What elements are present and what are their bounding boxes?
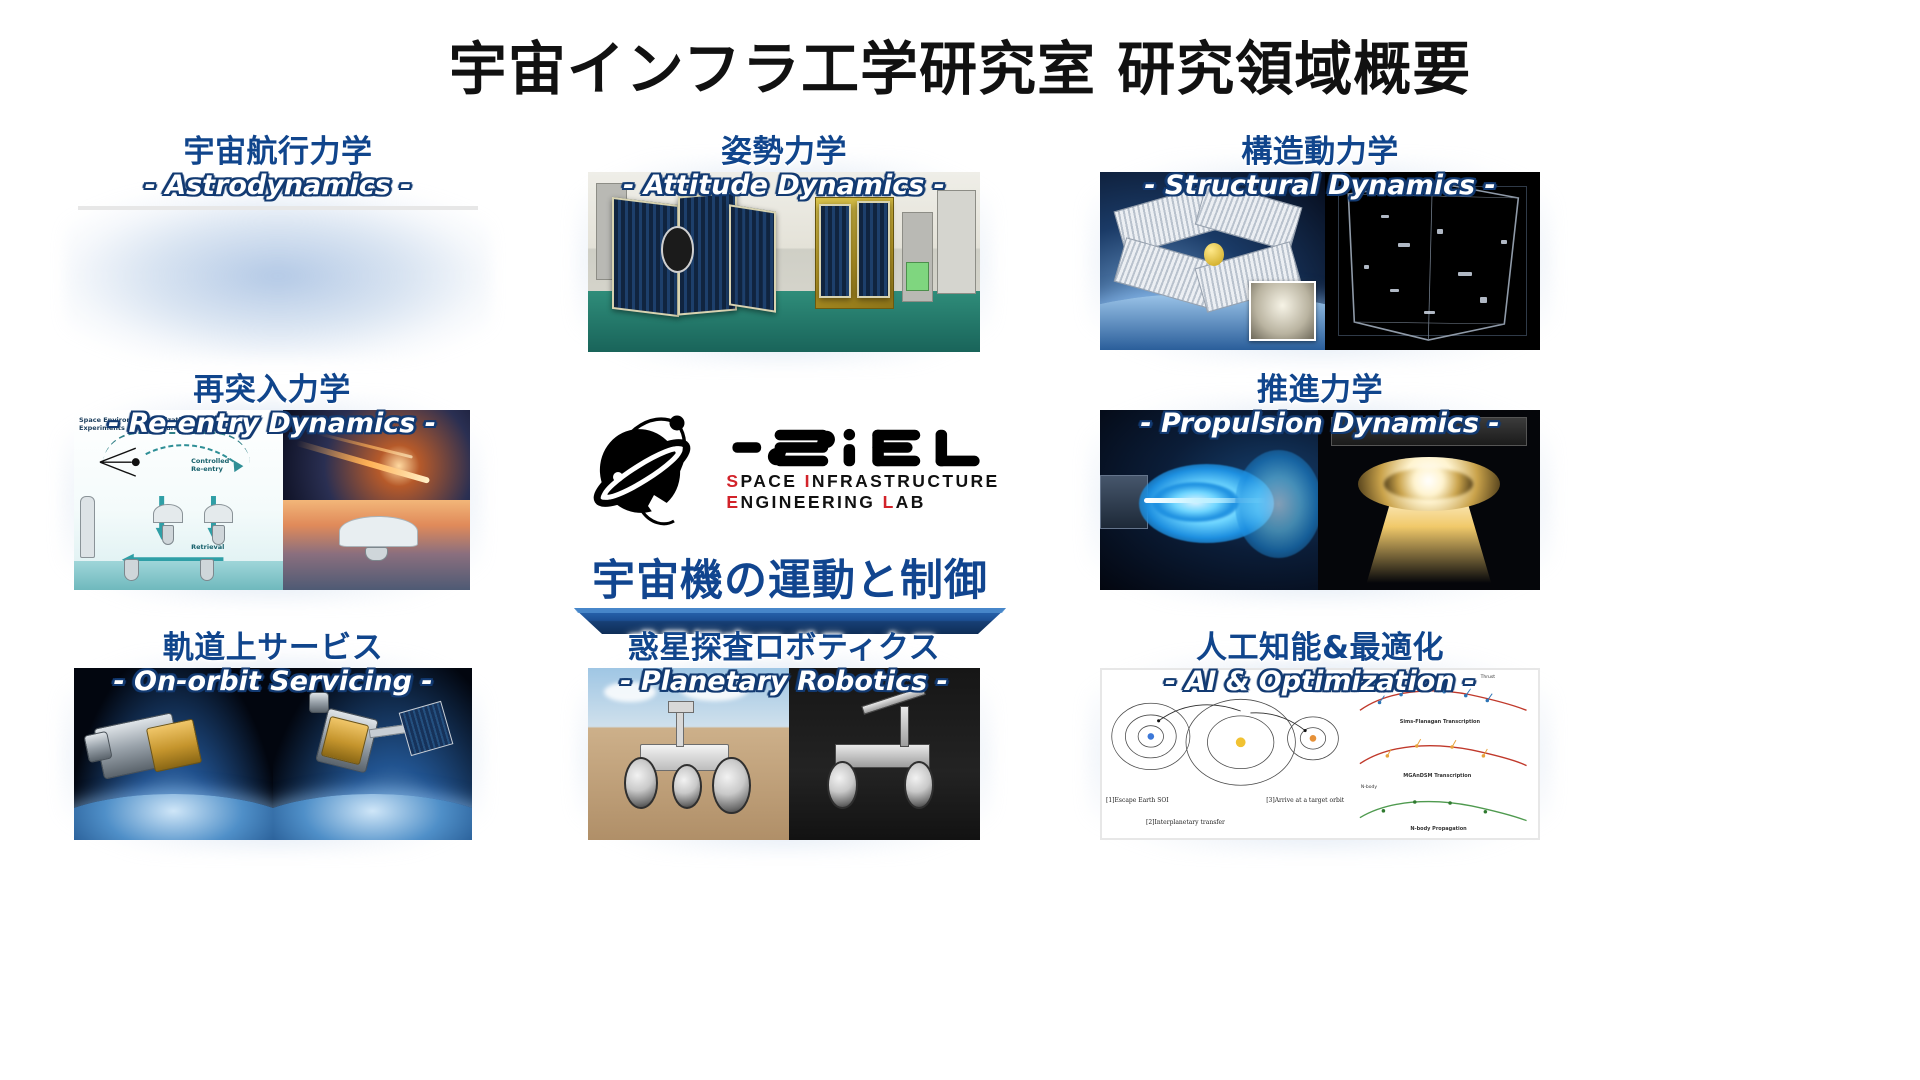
- spacecraft-gold-section: [145, 719, 201, 773]
- siel-wordmark: [726, 425, 988, 471]
- mgadsm-chart: MGAnDSM Transcription: [1354, 734, 1530, 778]
- logo-line2-tail: AB: [896, 492, 926, 512]
- logo-tagline: 宇宙機の運動と制御: [560, 546, 1020, 608]
- green-monitor: [906, 262, 930, 291]
- reflection-speck: [1437, 229, 1443, 234]
- area-heading-astrodynamics: 宇宙航行力学 - Astrodynamics -: [78, 126, 478, 201]
- parachute: [153, 504, 182, 524]
- solar-panel: [857, 201, 890, 298]
- solar-panel: [729, 204, 776, 312]
- cloud: [680, 677, 748, 701]
- area-card-propulsion-dynamics[interactable]: 推進力学 - Propulsion Dynamics -: [1100, 410, 1540, 590]
- area-card-astrodynamics[interactable]: z [ndim] 0.05 0 -0.05 -0.1 -0.15 -0.2 -0…: [78, 206, 478, 346]
- servicer-nozzle: [309, 692, 329, 713]
- ai-tag-thrust: Thrust: [1481, 675, 1495, 680]
- area-card-planetary-robotics[interactable]: 惑星探査ロボティクス - Planetary Robotics -: [588, 668, 980, 840]
- splashdown-photo: [283, 500, 470, 590]
- satellite-photo-left: [588, 172, 784, 352]
- ai-step3-label: [3]Arrive at a target orbit: [1266, 797, 1344, 804]
- saturn-satellite-mark: [580, 403, 712, 535]
- ai-chart1-caption: Sims-Flanagan Transcription: [1400, 719, 1480, 725]
- reflection-speck: [1381, 215, 1389, 218]
- descent-parachute: [339, 516, 417, 547]
- area-card-ai-optimization[interactable]: [1]Escape Earth SOI [2]Interplanetary tr…: [1100, 668, 1540, 840]
- reentry-capsule: [162, 525, 175, 545]
- servicer-solar-panel: [399, 701, 453, 756]
- area-card-structural-dynamics[interactable]: 構造動力学 - Structural Dynamics -: [1100, 172, 1540, 350]
- nozzle-throat-glow: [1384, 468, 1473, 500]
- sail-inset-photo: [1249, 281, 1317, 342]
- logo-line2-initial: E: [726, 492, 740, 512]
- area-jp-title: 宇宙航行力学: [78, 126, 478, 171]
- recovered-capsule: [200, 559, 215, 581]
- ai-step2-label: [2]Interplanetary transfer: [1146, 819, 1225, 826]
- ai-chart3-caption: N-body Propagation: [1410, 826, 1466, 832]
- rover-field-test-photo: [588, 668, 789, 840]
- siel-logo-block: SPACE INFRASTRUCTURE ENGINEERING LAB 宇宙機…: [560, 400, 1020, 610]
- ion-thruster-plume-photo: [1100, 410, 1318, 590]
- logo-line-2: ENGINEERING LAB: [726, 492, 925, 513]
- rover-mast: [676, 709, 684, 747]
- satellite-photo-right: [784, 172, 980, 352]
- launch-vehicle: [80, 496, 95, 557]
- reentry-photo-pair: [283, 410, 470, 590]
- sail-hub: [1204, 243, 1224, 266]
- logo-line2-l: L: [883, 492, 896, 512]
- logo-lockup: SPACE INFRASTRUCTURE ENGINEERING LAB: [560, 400, 1020, 538]
- splashdown-capsule: [365, 547, 387, 561]
- ai-tag-perturbation: Perturbation: [1357, 675, 1385, 680]
- rover-wheel: [827, 761, 858, 809]
- ai-chart2-caption: MGAnDSM Transcription: [1403, 773, 1471, 779]
- re-entry-dynamics-figure: Space Environment Utilization Experiment…: [74, 410, 470, 590]
- recovered-capsule: [124, 559, 139, 581]
- card-glow: [64, 192, 492, 360]
- rover-lab-photo: [789, 668, 980, 840]
- target-spacecraft-render: [74, 668, 273, 840]
- rover-camera-head: [668, 701, 694, 713]
- logo-line-1: SPACE INFRASTRUCTURE: [726, 471, 999, 492]
- tagline-banner-shape: [560, 608, 1020, 634]
- reflection-speck: [1398, 243, 1410, 247]
- reentry-capsule: [212, 525, 225, 545]
- reflection-speck: [1501, 240, 1507, 244]
- rover-wheel: [672, 764, 702, 809]
- ocean-ground: [74, 561, 283, 590]
- nbody-propagation-chart: N-body Propagation N-body: [1354, 788, 1530, 832]
- reflection-speck: [1364, 265, 1369, 269]
- structural-dynamics-photo: [1100, 172, 1540, 350]
- parachute: [204, 504, 233, 524]
- solar-sail-render: [1100, 172, 1325, 350]
- area-card-re-entry-dynamics[interactable]: Space Environment Utilization Experiment…: [74, 410, 470, 590]
- propulsion-dynamics-photo: [1100, 410, 1540, 590]
- sims-flanagan-chart: Sims-Flanagan Transcription Thrust Pertu…: [1354, 677, 1530, 724]
- area-card-on-orbit-servicing[interactable]: 軌道上サービス - On-orbit Servicing -: [74, 668, 472, 840]
- spacecraft-nozzle: [83, 731, 112, 763]
- reflection-speck: [1458, 272, 1472, 276]
- page-title: 宇宙インフラ工学研究室 研究領域概要: [0, 22, 1920, 106]
- rover-wheel: [712, 757, 750, 814]
- sail-membrane-edges: [1325, 172, 1540, 350]
- ai-step1-label: [1]Escape Earth SOI: [1106, 797, 1169, 804]
- planetary-robotics-photo: [588, 668, 980, 840]
- cloud: [604, 682, 656, 703]
- manipulator-link: [900, 706, 910, 747]
- logo-wordmark-group: SPACE INFRASTRUCTURE ENGINEERING LAB: [726, 425, 999, 512]
- atmospheric-entry-photo: [283, 410, 470, 500]
- sail-vibration-test: [1325, 172, 1540, 350]
- rover-wheel: [904, 761, 935, 809]
- servicer-spacecraft-render: [273, 668, 472, 840]
- astrodynamics-figure: z [ndim] 0.05 0 -0.05 -0.1 -0.15 -0.2 -0…: [78, 206, 478, 210]
- logo-line1-rest: PACE: [740, 471, 804, 491]
- logo-line2-rest: NGINEERING: [740, 492, 882, 512]
- earth-horizon: [74, 794, 273, 840]
- satellite-aperture: [661, 226, 694, 273]
- reentry-concept-diagram: Space Environment Utilization Experiment…: [74, 410, 283, 590]
- plume-halo: [1235, 450, 1318, 558]
- ai-tag-nbody: N-body: [1361, 785, 1377, 790]
- interplanetary-transfer-schematic: [1]Escape Earth SOI [2]Interplanetary tr…: [1102, 670, 1346, 838]
- logo-line1-i: I: [805, 471, 812, 491]
- transcription-charts: Sims-Flanagan Transcription Thrust Pertu…: [1346, 670, 1538, 838]
- logo-line1-initial: S: [726, 471, 740, 491]
- attitude-dynamics-photo: [588, 172, 980, 352]
- ai-diagram: [1]Escape Earth SOI [2]Interplanetary tr…: [1102, 670, 1538, 838]
- earth-horizon: [273, 794, 472, 840]
- solar-panel: [819, 204, 850, 298]
- nozzle-firing-photo: [1318, 410, 1540, 590]
- on-orbit-servicing-photo: [74, 668, 472, 840]
- test-stand: [1331, 417, 1527, 446]
- logo-line1-tail: NFRASTRUCTURE: [812, 471, 1000, 491]
- manipulator-arm: [862, 686, 926, 714]
- reflection-speck: [1480, 297, 1487, 303]
- ground-support-equipment: [937, 190, 976, 294]
- reflection-speck: [1424, 311, 1435, 314]
- area-card-attitude-dynamics[interactable]: 姿勢力学 - Attitude Dynamics -: [588, 172, 980, 352]
- rover-wheel: [624, 757, 658, 809]
- ai-optimization-figure: [1]Escape Earth SOI [2]Interplanetary tr…: [1100, 668, 1540, 840]
